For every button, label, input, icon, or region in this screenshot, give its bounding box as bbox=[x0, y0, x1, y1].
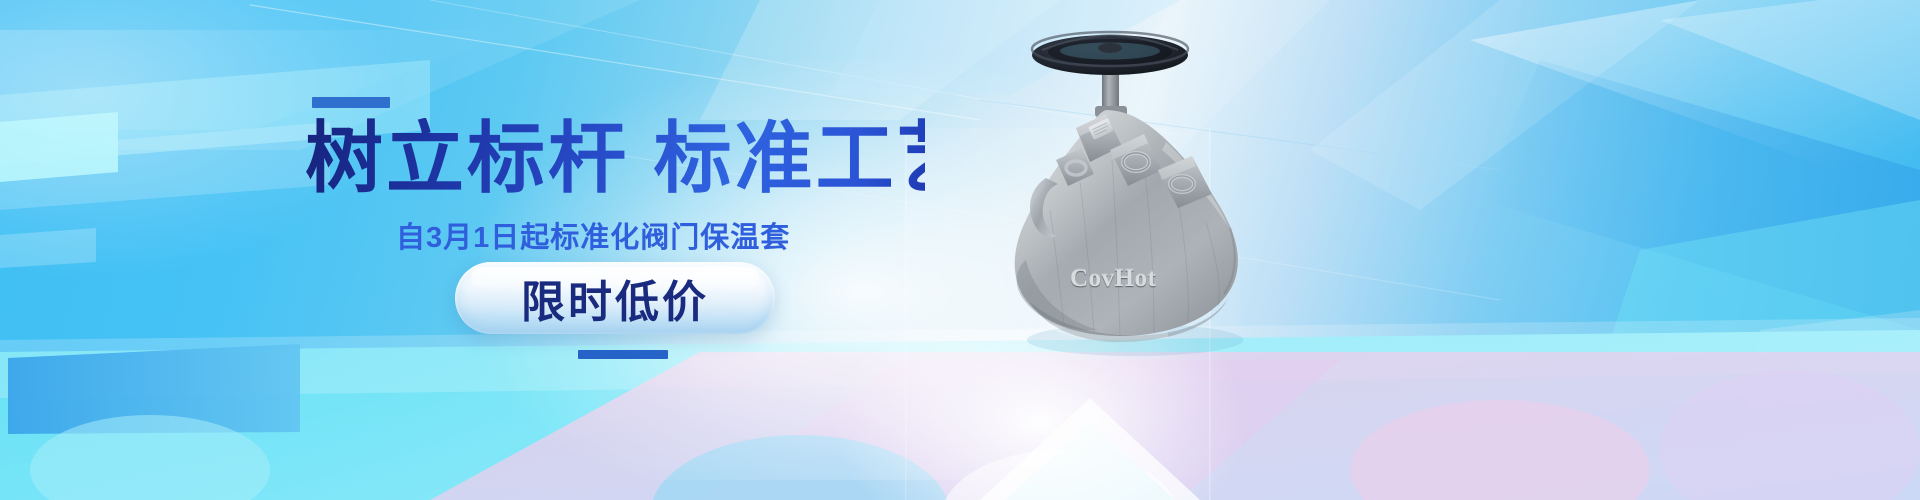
promo-banner: 树立标杆 标准工艺 自3月1日起标准化阀门保温套 限时低价 bbox=[0, 0, 1920, 500]
underline-bar bbox=[578, 350, 668, 359]
accent-bar bbox=[312, 97, 390, 108]
headline: 树立标杆 标准工艺 bbox=[305, 118, 925, 200]
subheadline: 自3月1日起标准化阀门保温套 bbox=[396, 214, 790, 256]
cta-label: 限时低价 bbox=[521, 266, 709, 330]
product-image: CovHot bbox=[930, 10, 1330, 380]
text-content: 树立标杆 标准工艺 自3月1日起标准化阀门保温套 限时低价 bbox=[0, 0, 960, 500]
cta-button[interactable]: 限时低价 bbox=[455, 262, 775, 334]
valve-handwheel bbox=[1032, 32, 1188, 75]
